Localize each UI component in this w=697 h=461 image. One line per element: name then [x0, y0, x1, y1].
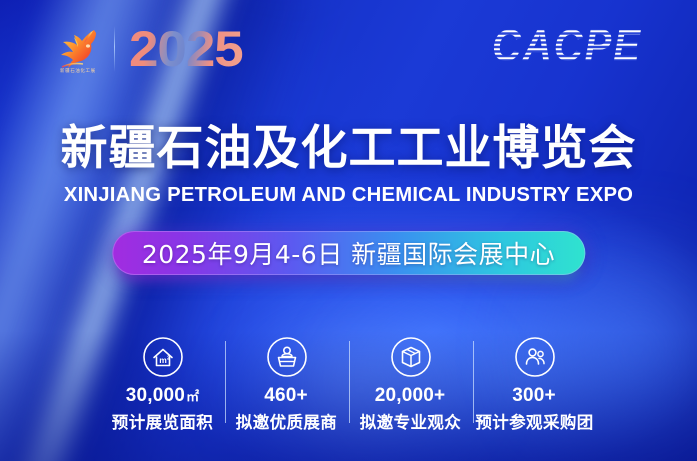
- stat-item-exhibitors: 460+ 拟邀优质展商: [225, 333, 349, 433]
- date-banner-text: 2025年9月4-6日 新疆国际会展中心: [142, 235, 555, 271]
- stat-number: 30,000: [126, 385, 185, 406]
- stat-item-visitors: 20,000+ 拟邀专业观众: [349, 333, 473, 433]
- year-text: 2025: [129, 24, 243, 74]
- date-banner-pill: 2025年9月4-6日 新疆国际会展中心: [112, 231, 585, 275]
- stat-value: 300+: [473, 385, 597, 407]
- svg-text:2: 2: [166, 356, 169, 362]
- expo-poster: 新疆石油化工展 2025 CACPE 新疆石油及化工工业博览会 XINJIANG…: [0, 0, 697, 461]
- stats-row: m 2 30,000㎡ 预计展览面积 460+ 拟邀优质展商: [0, 333, 697, 433]
- page-title-chinese: 新疆石油及化工工业博览会: [0, 124, 697, 173]
- stat-label: 拟邀优质展商: [225, 409, 349, 433]
- stat-number: 460+: [264, 385, 308, 406]
- stat-value: 20,000+: [349, 385, 473, 407]
- stat-item-buyer-groups: 300+ 预计参观采购团: [473, 333, 597, 433]
- brand-lockup: 新疆石油化工展 2025: [50, 18, 236, 80]
- stat-label: 预计参观采购团: [473, 409, 597, 433]
- stat-value: 460+: [225, 385, 349, 407]
- logo-subtext: 新疆石油化工展: [60, 68, 96, 74]
- stat-item-exhibition-area: m 2 30,000㎡ 预计展览面积: [101, 333, 225, 433]
- cube-box-icon: [349, 333, 473, 381]
- people-group-icon: [473, 333, 597, 381]
- date-banner: 2025年9月4-6日 新疆国际会展中心: [112, 231, 585, 275]
- stat-unit: ㎡: [186, 389, 199, 404]
- stat-label: 预计展览面积: [101, 409, 225, 433]
- stat-label: 拟邀专业观众: [349, 409, 473, 433]
- logo-container: 新疆石油化工展: [50, 21, 106, 77]
- poster-header: 新疆石油化工展 2025 CACPE: [0, 18, 697, 80]
- stat-value: 30,000㎡: [101, 385, 225, 407]
- page-title-english: XINJIANG PETROLEUM AND CHEMICAL INDUSTRY…: [3, 183, 693, 207]
- stat-number: 300+: [512, 385, 556, 406]
- stat-number: 20,000+: [375, 385, 446, 406]
- podium-exhibitor-icon: [225, 333, 349, 381]
- brand-divider: [114, 26, 115, 72]
- house-area-icon: m 2: [101, 333, 225, 381]
- acronym-cacpe: CACPE: [492, 21, 642, 71]
